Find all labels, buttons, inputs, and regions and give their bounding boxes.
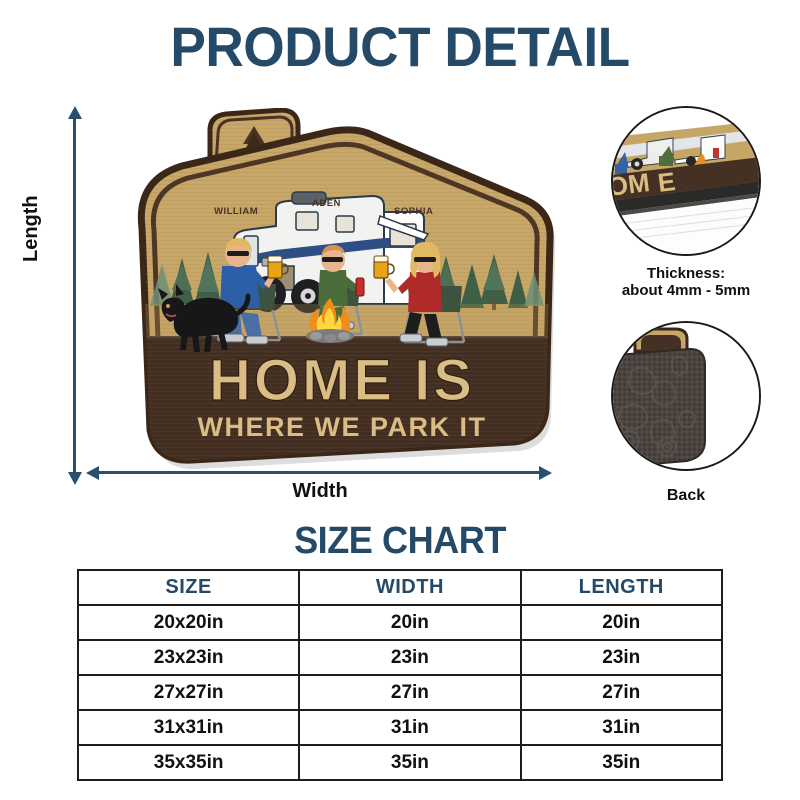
length-cell: 20in — [521, 605, 722, 640]
thickness-detail-circle: OM E HERE W — [611, 106, 761, 256]
arrow-left-icon — [86, 466, 99, 480]
main-text-line1: HOME IS — [209, 348, 475, 413]
width-cell: 31in — [299, 710, 520, 745]
sunglasses-icon — [227, 251, 249, 256]
size-cell: 35x35in — [78, 745, 299, 780]
width-label: Width — [0, 480, 640, 503]
table-row: 27x27in27in27in — [78, 675, 722, 710]
sunglasses-icon — [414, 257, 436, 262]
main-text-line2: WHERE WE PARK IT — [198, 412, 487, 442]
arrow-up-icon — [68, 106, 82, 119]
length-label: Length — [20, 195, 43, 262]
sign-main-text: HOME IS WHERE WE PARK IT — [198, 348, 487, 442]
thickness-caption: Thickness: about 4mm - 5mm — [591, 265, 781, 299]
length-cell: 23in — [521, 640, 722, 675]
width-cell: 27in — [299, 675, 520, 710]
width-cell: 20in — [299, 605, 520, 640]
back-caption: Back — [591, 487, 781, 504]
size-cell: 23x23in — [78, 640, 299, 675]
size-cell: 31x31in — [78, 710, 299, 745]
product-image: WILLIAM ADEN SOPHIA HOME IS WHERE WE PAR… — [122, 108, 562, 470]
table-row: 31x31in31in31in — [78, 710, 722, 745]
length-cell: 31in — [521, 710, 722, 745]
sunglasses-icon — [322, 257, 343, 262]
table-row: 20x20in20in20in — [78, 605, 722, 640]
column-header-size: SIZE — [78, 570, 299, 605]
length-cell: 27in — [521, 675, 722, 710]
size-cell: 27x27in — [78, 675, 299, 710]
soda-bottle-icon — [356, 278, 364, 296]
width-dimension-arrow — [98, 471, 540, 474]
size-chart-table: SIZE WIDTH LENGTH 20x20in20in20in23x23in… — [77, 569, 723, 781]
thickness-caption-line2: about 4mm - 5mm — [591, 282, 781, 299]
table-header-row: SIZE WIDTH LENGTH — [78, 570, 722, 605]
size-chart-title: SIZE CHART — [20, 521, 780, 561]
table-row: 23x23in23in23in — [78, 640, 722, 675]
page-title: PRODUCT DETAIL — [20, 18, 780, 76]
length-cell: 35in — [521, 745, 722, 780]
table-row: 35x35in35in35in — [78, 745, 722, 780]
column-header-width: WIDTH — [299, 570, 520, 605]
back-detail-circle — [611, 321, 761, 471]
size-cell: 20x20in — [78, 605, 299, 640]
width-cell: 23in — [299, 640, 520, 675]
name-label-aden: ADEN — [312, 198, 341, 209]
product-detail-page: PRODUCT DETAIL Length Width — [0, 0, 800, 800]
thickness-caption-line1: Thickness: — [591, 265, 781, 282]
column-header-length: LENGTH — [521, 570, 722, 605]
length-dimension-arrow — [73, 118, 76, 473]
name-label-sophia: SOPHIA — [394, 206, 433, 217]
name-label-william: WILLIAM — [214, 206, 258, 217]
width-cell: 35in — [299, 745, 520, 780]
